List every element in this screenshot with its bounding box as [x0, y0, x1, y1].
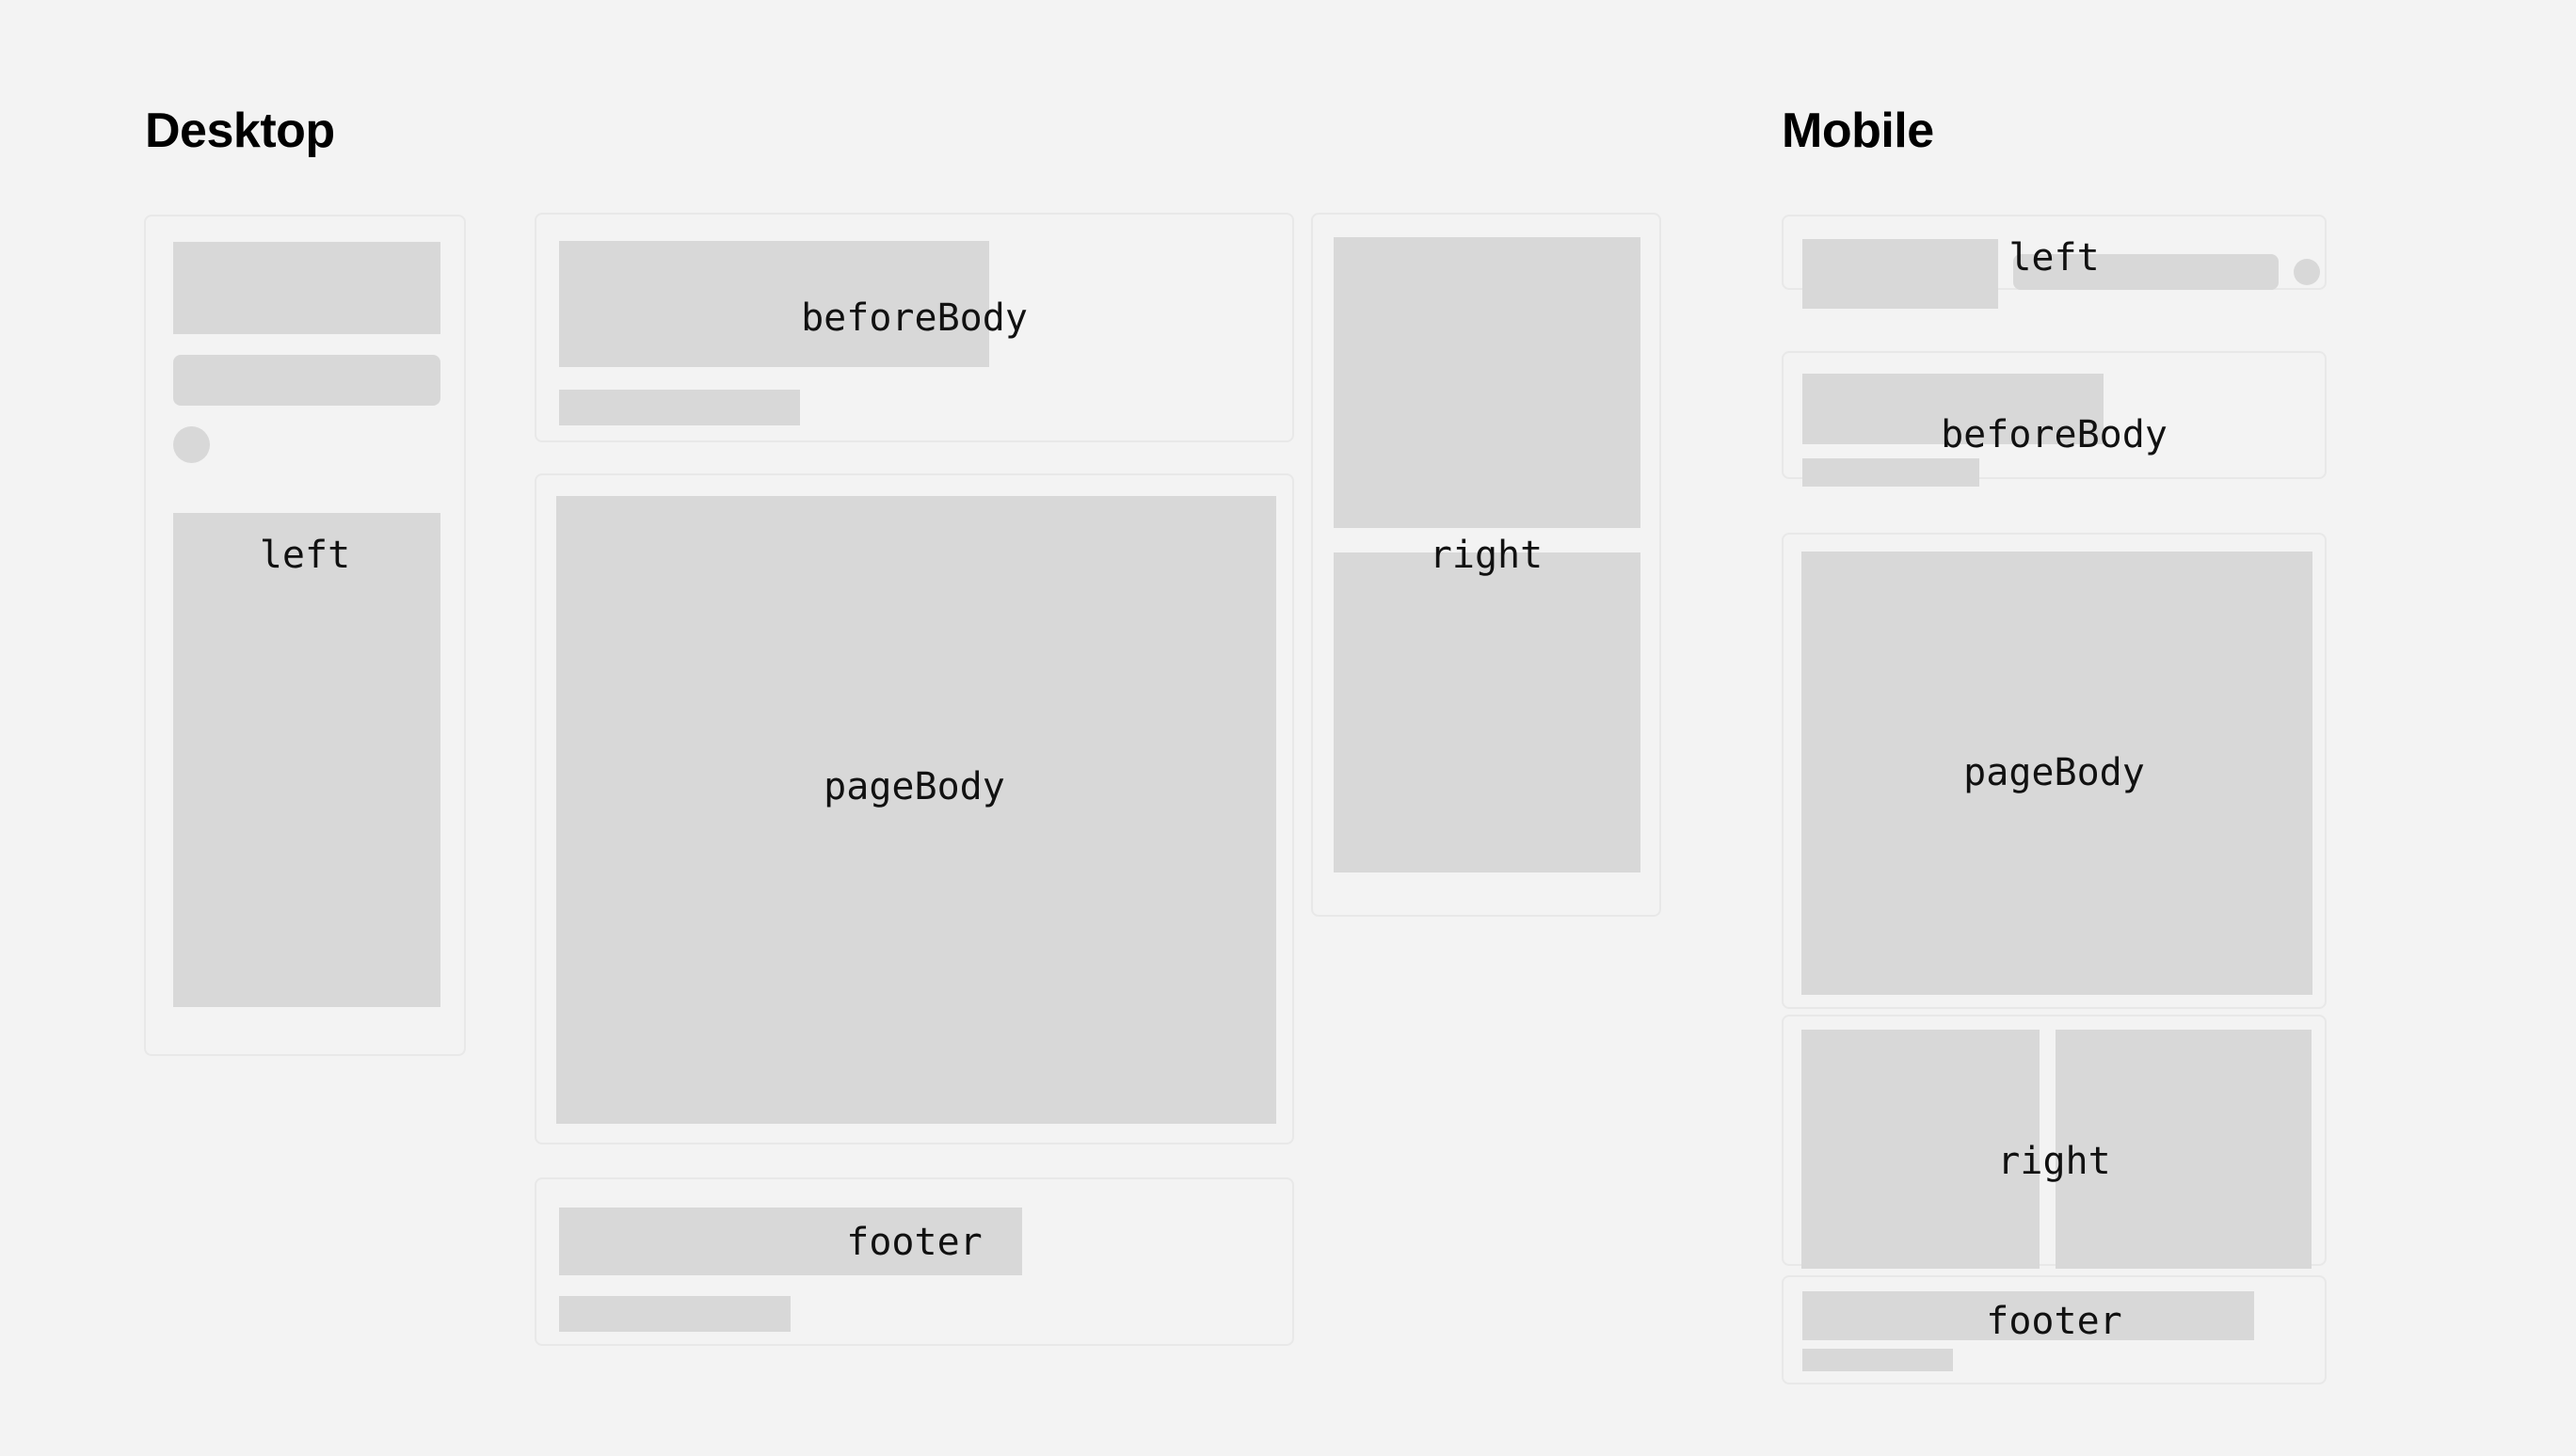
mobile-slot-right-panel[interactable] [1782, 1015, 2327, 1266]
skeleton-block [1334, 552, 1640, 872]
skeleton-block [1801, 1030, 2040, 1269]
skeleton-bar [2013, 254, 2279, 290]
skeleton-bar [1802, 458, 1979, 487]
desktop-slot-pagebody-panel[interactable] [535, 473, 1294, 1144]
skeleton-block [1334, 237, 1640, 528]
skeleton-block [173, 242, 440, 334]
skeleton-block [1802, 239, 1998, 309]
skeleton-block [173, 513, 440, 1007]
skeleton-block [559, 241, 989, 367]
skeleton-avatar-circle [173, 426, 210, 463]
skeleton-bar [1802, 1349, 1953, 1371]
mobile-section-title: Mobile [1782, 106, 1934, 155]
skeleton-block [2056, 1030, 2312, 1269]
desktop-slot-right-panel[interactable] [1311, 213, 1661, 917]
skeleton-block [1801, 552, 2312, 995]
skeleton-block [1802, 1291, 2254, 1340]
mobile-slot-pagebody-panel[interactable] [1782, 533, 2327, 1009]
skeleton-bar [559, 1296, 791, 1332]
skeleton-bar [173, 355, 440, 406]
mobile-slot-left-panel[interactable] [1782, 215, 2327, 290]
desktop-section-title: Desktop [145, 106, 335, 155]
mobile-slot-beforebody-panel[interactable] [1782, 351, 2327, 479]
desktop-slot-left-panel[interactable] [144, 215, 466, 1056]
skeleton-avatar-circle [2294, 259, 2320, 285]
skeleton-block [559, 1208, 1022, 1275]
skeleton-bar [559, 390, 800, 425]
layout-preview-page: { "colors": { "background": "#f3f3f3", "… [0, 0, 2576, 1456]
desktop-slot-beforebody-panel[interactable] [535, 213, 1294, 442]
skeleton-block [556, 496, 1276, 1124]
skeleton-block [1802, 374, 2104, 444]
mobile-slot-footer-panel[interactable] [1782, 1275, 2327, 1384]
desktop-slot-footer-panel[interactable] [535, 1177, 1294, 1346]
